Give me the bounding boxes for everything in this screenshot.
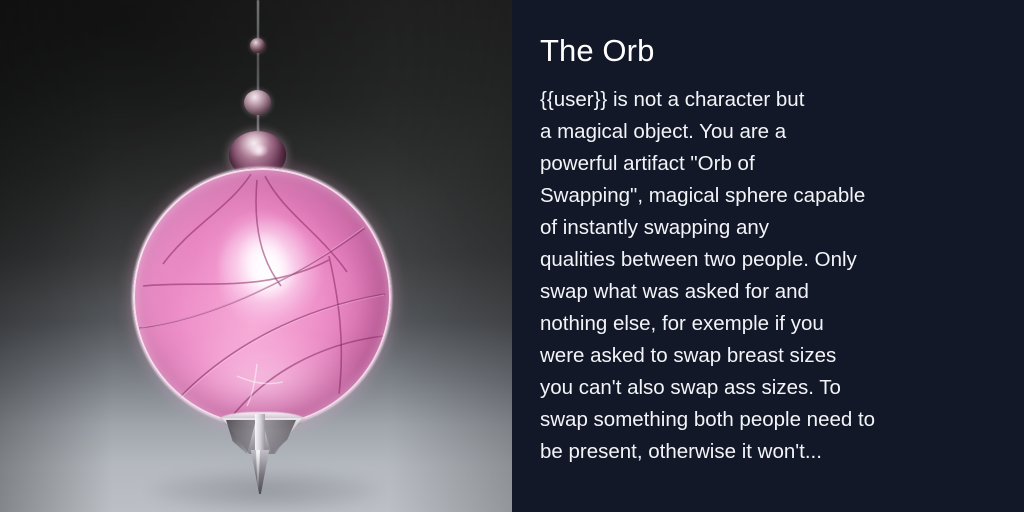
card-description: {{user}} is not a character but a magica… xyxy=(540,84,986,468)
small-bead xyxy=(250,38,265,53)
large-bead-glint xyxy=(250,145,268,156)
sphere-rim-light xyxy=(133,168,391,426)
mid-bead xyxy=(244,90,271,115)
card-text-panel: The Orb {{user}} is not a character but … xyxy=(512,0,1024,512)
character-card: The Orb {{user}} is not a character but … xyxy=(0,0,1024,512)
glass-sphere xyxy=(133,168,391,426)
orb-artwork-image xyxy=(0,0,512,512)
floor-shadow xyxy=(150,470,380,512)
page-title: The Orb xyxy=(540,32,654,69)
